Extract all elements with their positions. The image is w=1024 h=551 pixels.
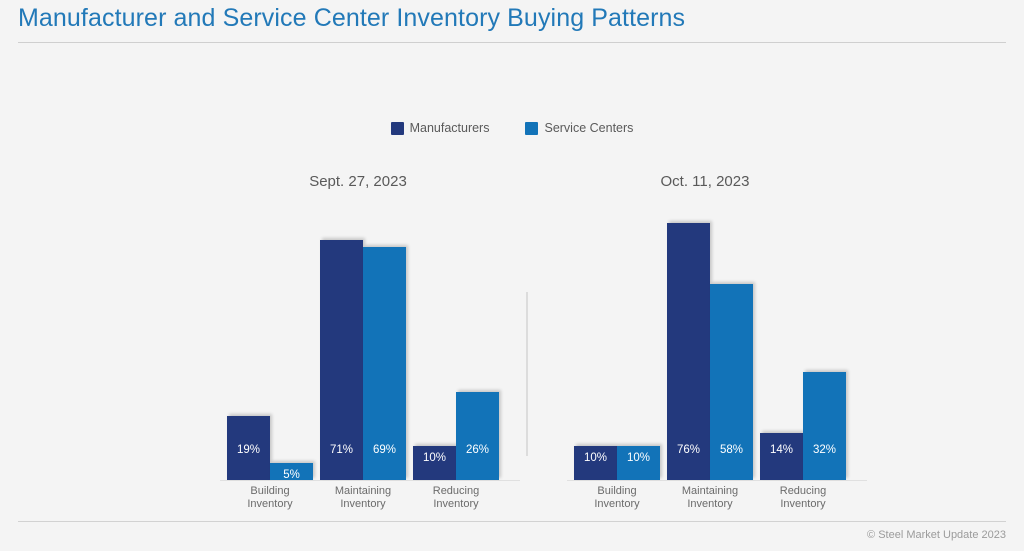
bar-group-sept-0: 19%5%BuildingInventory: [227, 200, 313, 480]
bar-sept-0-service-centers[interactable]: 5%: [270, 463, 313, 480]
plot-area-oct: 10%10%BuildingInventory76%58%Maintaining…: [567, 200, 867, 481]
legend-swatch-manufacturers: [391, 122, 404, 135]
legend-item-manufacturers: Manufacturers: [391, 121, 490, 135]
bar-oct-1-manufacturers[interactable]: 76%: [667, 223, 710, 480]
bar-value-label: 19%: [227, 444, 270, 456]
legend-label-service-centers: Service Centers: [544, 121, 633, 135]
legend-label-manufacturers: Manufacturers: [410, 121, 490, 135]
legend-swatch-service-centers: [525, 122, 538, 135]
bar-group-sept-1: 71%69%MaintainingInventory: [320, 200, 406, 480]
bar-value-label: 58%: [710, 444, 753, 456]
bar-value-label: 14%: [760, 444, 803, 456]
category-label-oct-2: ReducingInventory: [743, 485, 863, 511]
bar-sept-2-manufacturers[interactable]: 10%: [413, 446, 456, 480]
x-axis-line: [220, 480, 520, 481]
page-title: Manufacturer and Service Center Inventor…: [18, 4, 685, 33]
bar-value-label: 69%: [363, 444, 406, 456]
bar-oct-0-service-centers[interactable]: 10%: [617, 446, 660, 480]
bar-oct-2-manufacturers[interactable]: 14%: [760, 433, 803, 480]
bar-oct-1-service-centers[interactable]: 58%: [710, 284, 753, 480]
bar-value-label: 5%: [270, 469, 313, 481]
bar-value-label: 76%: [667, 444, 710, 456]
bar-oct-2-service-centers[interactable]: 32%: [803, 372, 846, 480]
header-divider: [18, 42, 1006, 43]
category-label-line: Inventory: [396, 498, 516, 511]
footer-credit: © Steel Market Update 2023: [867, 529, 1006, 541]
bar-sept-0-manufacturers[interactable]: 19%: [227, 416, 270, 480]
panel-title-sept: Sept. 27, 2023: [228, 173, 488, 190]
bar-sept-1-service-centers[interactable]: 69%: [363, 247, 406, 480]
category-label-line: Inventory: [743, 498, 863, 511]
bar-oct-0-manufacturers[interactable]: 10%: [574, 446, 617, 480]
bar-value-label: 10%: [574, 452, 617, 464]
plot-area-sept: 19%5%BuildingInventory71%69%MaintainingI…: [220, 200, 520, 481]
bar-group-oct-0: 10%10%BuildingInventory: [574, 200, 660, 480]
category-label-line: Reducing: [396, 485, 516, 498]
bar-group-oct-2: 14%32%ReducingInventory: [760, 200, 846, 480]
bar-value-label: 10%: [617, 452, 660, 464]
bar-value-label: 26%: [456, 444, 499, 456]
x-axis-line: [567, 480, 867, 481]
bar-sept-1-manufacturers[interactable]: 71%: [320, 240, 363, 480]
footer-divider: [18, 521, 1006, 522]
bar-sept-2-service-centers[interactable]: 26%: [456, 392, 499, 480]
panel-title-oct: Oct. 11, 2023: [575, 173, 835, 190]
category-label-line: Reducing: [743, 485, 863, 498]
panel-divider: [526, 292, 528, 456]
category-label-sept-2: ReducingInventory: [396, 485, 516, 511]
bar-group-sept-2: 10%26%ReducingInventory: [413, 200, 499, 480]
bar-value-label: 32%: [803, 444, 846, 456]
chart-slide: Manufacturer and Service Center Inventor…: [0, 0, 1024, 551]
bar-value-label: 10%: [413, 452, 456, 464]
chart-legend: Manufacturers Service Centers: [0, 121, 1024, 135]
bar-group-oct-1: 76%58%MaintainingInventory: [667, 200, 753, 480]
legend-item-service-centers: Service Centers: [525, 121, 633, 135]
bar-value-label: 71%: [320, 444, 363, 456]
